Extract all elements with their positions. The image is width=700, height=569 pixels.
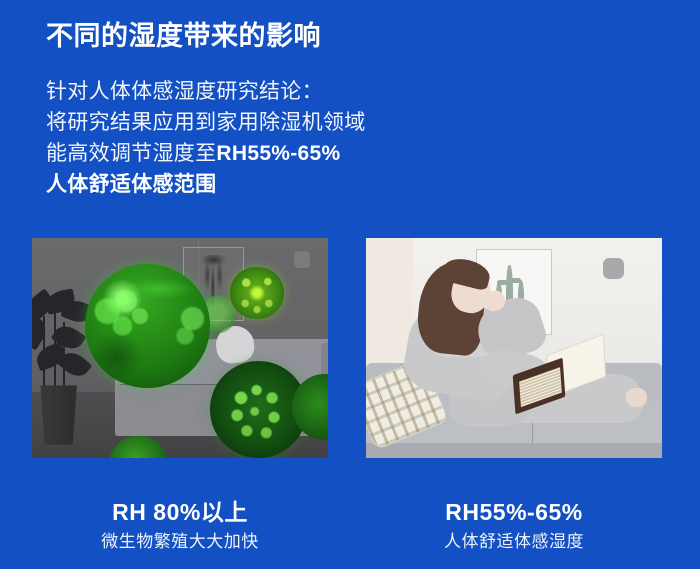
plant-stem [43,316,45,396]
person-foot [626,388,647,408]
photo-panel-comfort-humidity [366,238,662,458]
photo-high-humidity-scene [32,238,328,458]
microbe-blob-large [85,264,209,387]
body-line-4: 人体舒适体感范围 [46,169,466,200]
body-line-3-text: 能高效调节湿度至 [46,142,216,165]
body-line-2: 将研究结果应用到家用除湿机领域 [46,107,466,138]
humidity-comparison-poster: 不同的湿度带来的影响 针对人体体感湿度研究结论： 将研究结果应用到家用除湿机领域… [0,0,700,569]
cactus-branch-left [497,280,507,285]
body-copy: 针对人体体感湿度研究结论： 将研究结果应用到家用除湿机领域 能高效调节湿度至RH… [46,76,466,200]
wall-speaker [294,251,310,268]
sofa-base [366,443,662,458]
cactus-branch-right [511,278,521,283]
caption-sub-high-humidity: 微生物繁殖大大加快 [32,529,328,555]
plant-stem [54,303,56,396]
caption-sub-comfort-humidity: 人体舒适体感湿度 [366,529,662,555]
caption-title-high-humidity: RH 80%以上 [32,497,328,527]
humidity-range-emphasis: RH55%-65% [216,142,340,165]
caption-title-comfort-humidity: RH55%-65% [366,497,662,527]
plant-pot [38,385,79,444]
plant-stem [63,322,65,396]
wall-speaker [603,258,624,279]
page-title: 不同的湿度带来的影响 [46,18,321,54]
body-line-3: 能高效调节湿度至RH55%-65% [46,138,466,169]
caption-high-humidity: RH 80%以上 微生物繁殖大大加快 [32,497,328,555]
microbe-blob-upper-right [230,267,283,320]
photo-comfort-scene [366,238,662,458]
body-line-1: 针对人体体感湿度研究结论： [46,76,466,107]
caption-comfort-humidity: RH55%-65% 人体舒适体感湿度 [366,497,662,555]
photo-panel-high-humidity [32,238,328,458]
